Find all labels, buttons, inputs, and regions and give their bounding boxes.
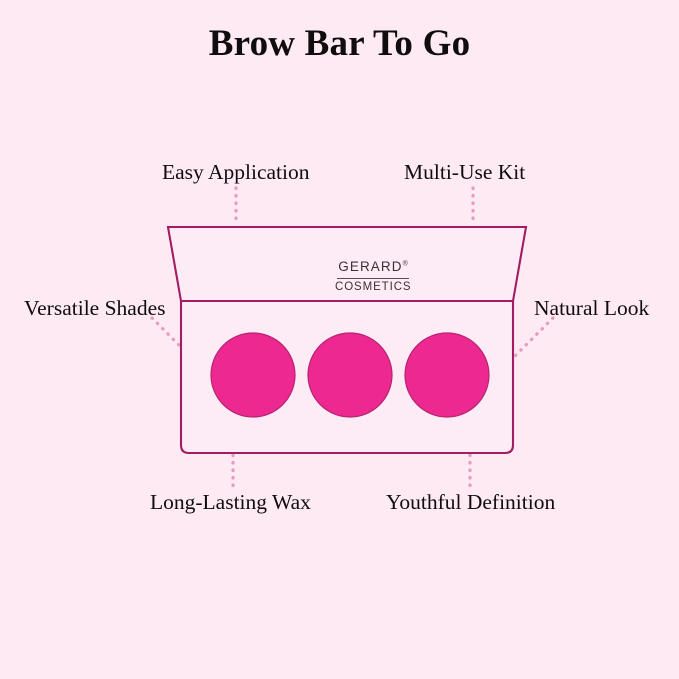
brand-logo: GERARD® COSMETICS	[335, 258, 411, 293]
palette-pan-3	[405, 333, 489, 417]
feature-label-easy-application: Easy Application	[162, 162, 310, 184]
brand-name: GERARD®	[338, 260, 408, 274]
registered-trademark-icon: ®	[403, 261, 408, 268]
brand-name-text: GERARD	[338, 259, 402, 274]
feature-label-versatile-shades: Versatile Shades	[24, 298, 166, 320]
feature-label-youthful-definition: Youthful Definition	[386, 492, 555, 514]
brand-sub-name: COSMETICS	[335, 281, 411, 293]
palette-pan-2	[308, 333, 392, 417]
feature-label-multi-use-kit: Multi-Use Kit	[404, 162, 525, 184]
product-illustration	[0, 0, 679, 679]
infographic-canvas: Brow Bar To Go GERARD® COSMETICS Eas	[0, 0, 679, 679]
feature-label-long-lasting-wax: Long-Lasting Wax	[150, 492, 311, 514]
feature-label-natural-look: Natural Look	[534, 298, 649, 320]
brand-divider	[337, 278, 409, 279]
leader-line-natural-look	[508, 318, 553, 363]
palette-pan-1	[211, 333, 295, 417]
palette-pans	[211, 333, 489, 417]
